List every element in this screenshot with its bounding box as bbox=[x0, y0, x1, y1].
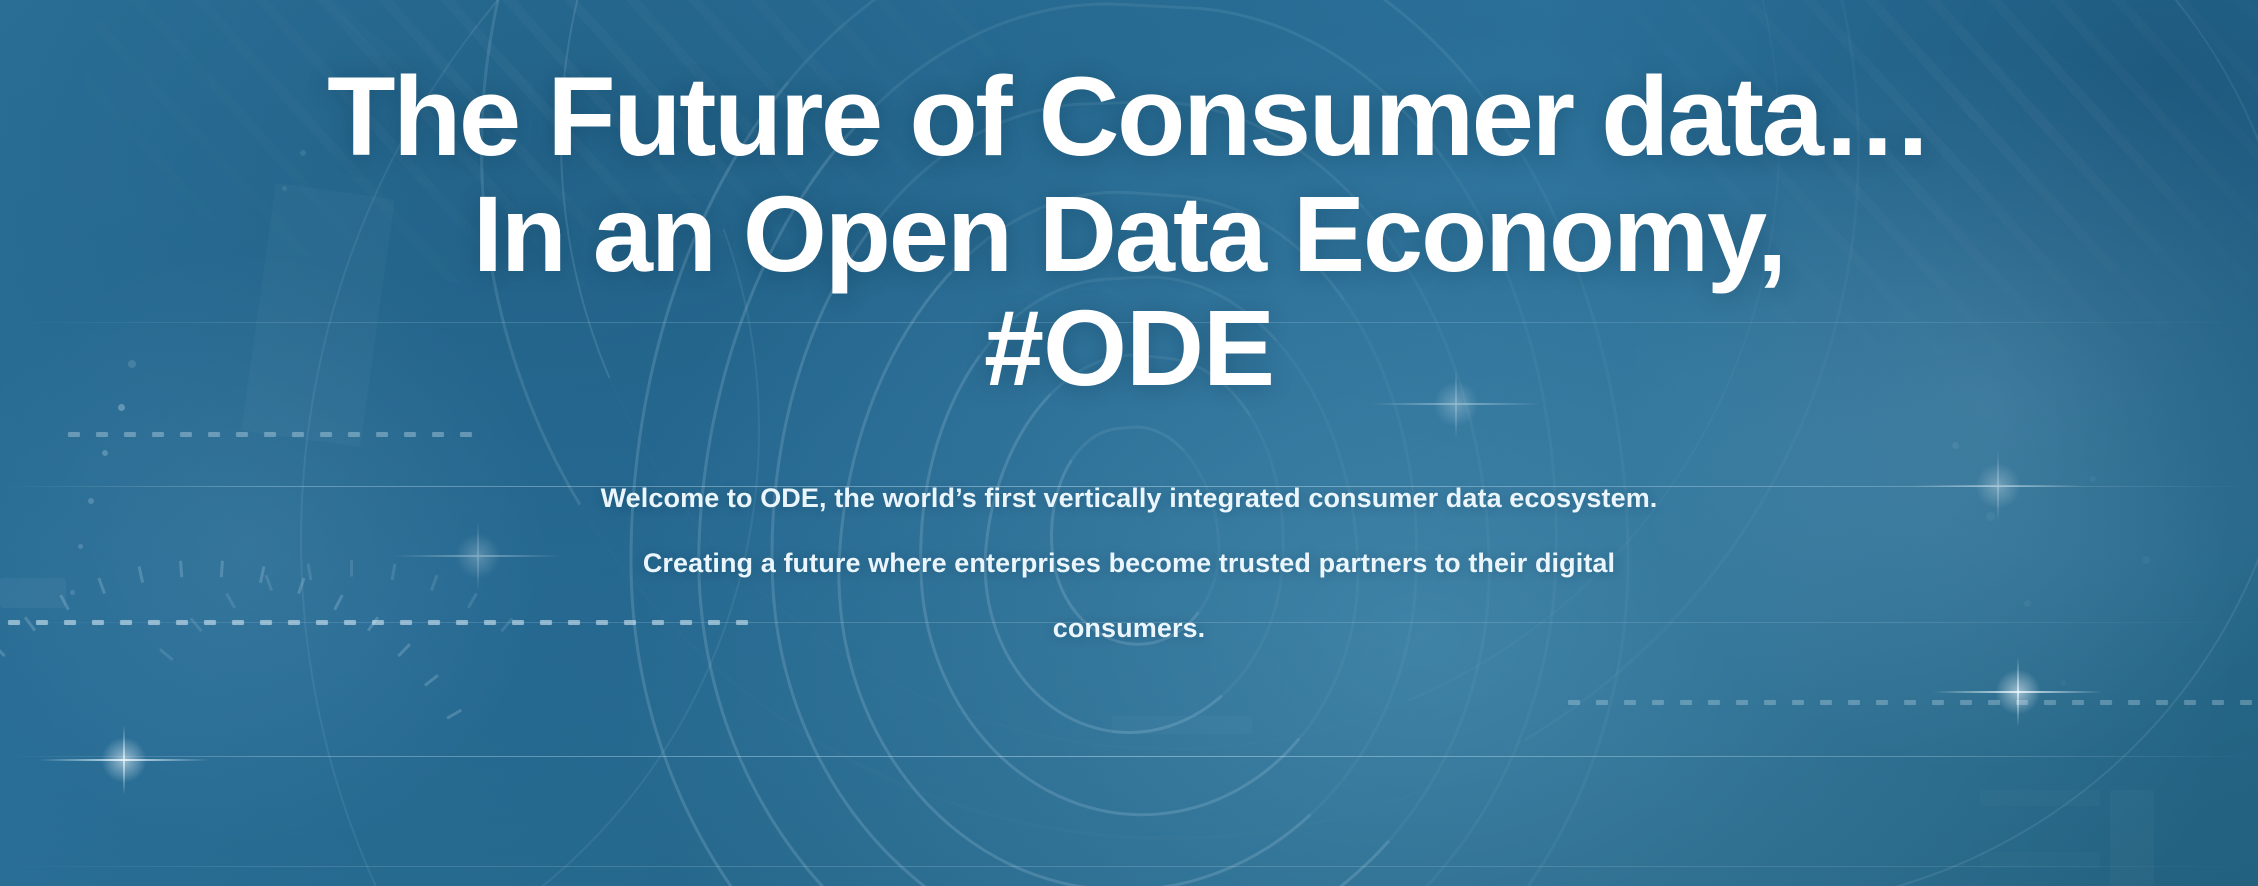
subcopy-line-2: Creating a future where enterprises beco… bbox=[539, 531, 1719, 596]
headline-line-3: #ODE bbox=[0, 291, 2258, 405]
hero-content: The Future of Consumer data… In an Open … bbox=[0, 0, 2258, 886]
hero-subcopy: Welcome to ODE, the world’s first vertic… bbox=[539, 466, 1719, 662]
page-title: The Future of Consumer data… In an Open … bbox=[0, 58, 2258, 406]
headline-line-2: In an Open Data Economy, bbox=[0, 177, 2258, 291]
subcopy-line-3: consumers. bbox=[539, 596, 1719, 661]
hero-banner: The Future of Consumer data… In an Open … bbox=[0, 0, 2258, 886]
subcopy-line-1: Welcome to ODE, the world’s first vertic… bbox=[539, 466, 1719, 531]
headline-line-1: The Future of Consumer data… bbox=[0, 58, 2258, 177]
